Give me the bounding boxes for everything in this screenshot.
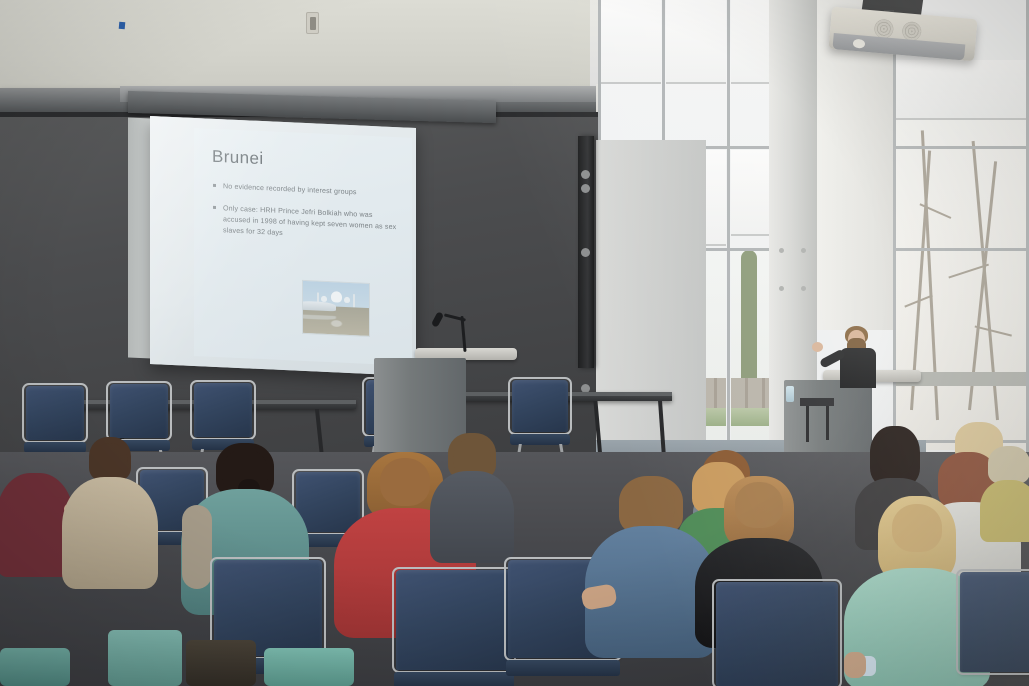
right-wall xyxy=(596,140,706,470)
side-table xyxy=(800,398,834,406)
window-shade-upper-2[interactable] xyxy=(666,0,726,84)
projector-status-led xyxy=(119,22,126,29)
empty-chair-foreground[interactable] xyxy=(716,582,838,686)
empty-chair-foreground[interactable] xyxy=(960,572,1029,672)
empty-chair[interactable] xyxy=(110,384,168,438)
wall-outlet xyxy=(306,12,319,34)
slide-image-mosque xyxy=(302,280,370,337)
attendee-dark-back xyxy=(428,433,516,557)
window-view-right xyxy=(731,250,769,468)
tote-bag-teal xyxy=(264,648,354,686)
slide-title: Brunei xyxy=(212,147,398,175)
empty-chair[interactable] xyxy=(512,380,568,432)
window-shade-far-right[interactable] xyxy=(896,60,1029,120)
backpack-dark xyxy=(0,648,70,686)
slide-bullet: No evidence recorded by interest groups xyxy=(212,181,398,200)
slide-bullet: Only case: HRH Prince Jefri Bolkiah who … xyxy=(212,203,398,244)
attendee-tan-sweater xyxy=(60,437,160,587)
empty-chair-foreground[interactable] xyxy=(396,570,512,670)
slide-bullet-list: No evidence recorded by interest groups … xyxy=(212,181,398,244)
presenter-at-podium xyxy=(812,326,902,388)
empty-chair[interactable] xyxy=(26,386,84,440)
window-shade-3[interactable] xyxy=(731,150,769,236)
wall-mounted-speaker xyxy=(578,136,594,368)
empty-chair[interactable] xyxy=(194,383,252,437)
screen-left-border xyxy=(128,117,152,358)
lecture-hall-photo: Brunei No evidence recorded by interest … xyxy=(0,0,1029,686)
bag-patterned xyxy=(186,640,256,686)
projection-screen: Brunei No evidence recorded by interest … xyxy=(150,116,416,376)
tote-bag-teal xyxy=(108,630,182,686)
window-shade-upper-1[interactable] xyxy=(601,0,661,84)
water-bottle xyxy=(786,386,794,402)
projected-slide: Brunei No evidence recorded by interest … xyxy=(194,128,412,366)
ceiling-panel xyxy=(0,0,600,100)
